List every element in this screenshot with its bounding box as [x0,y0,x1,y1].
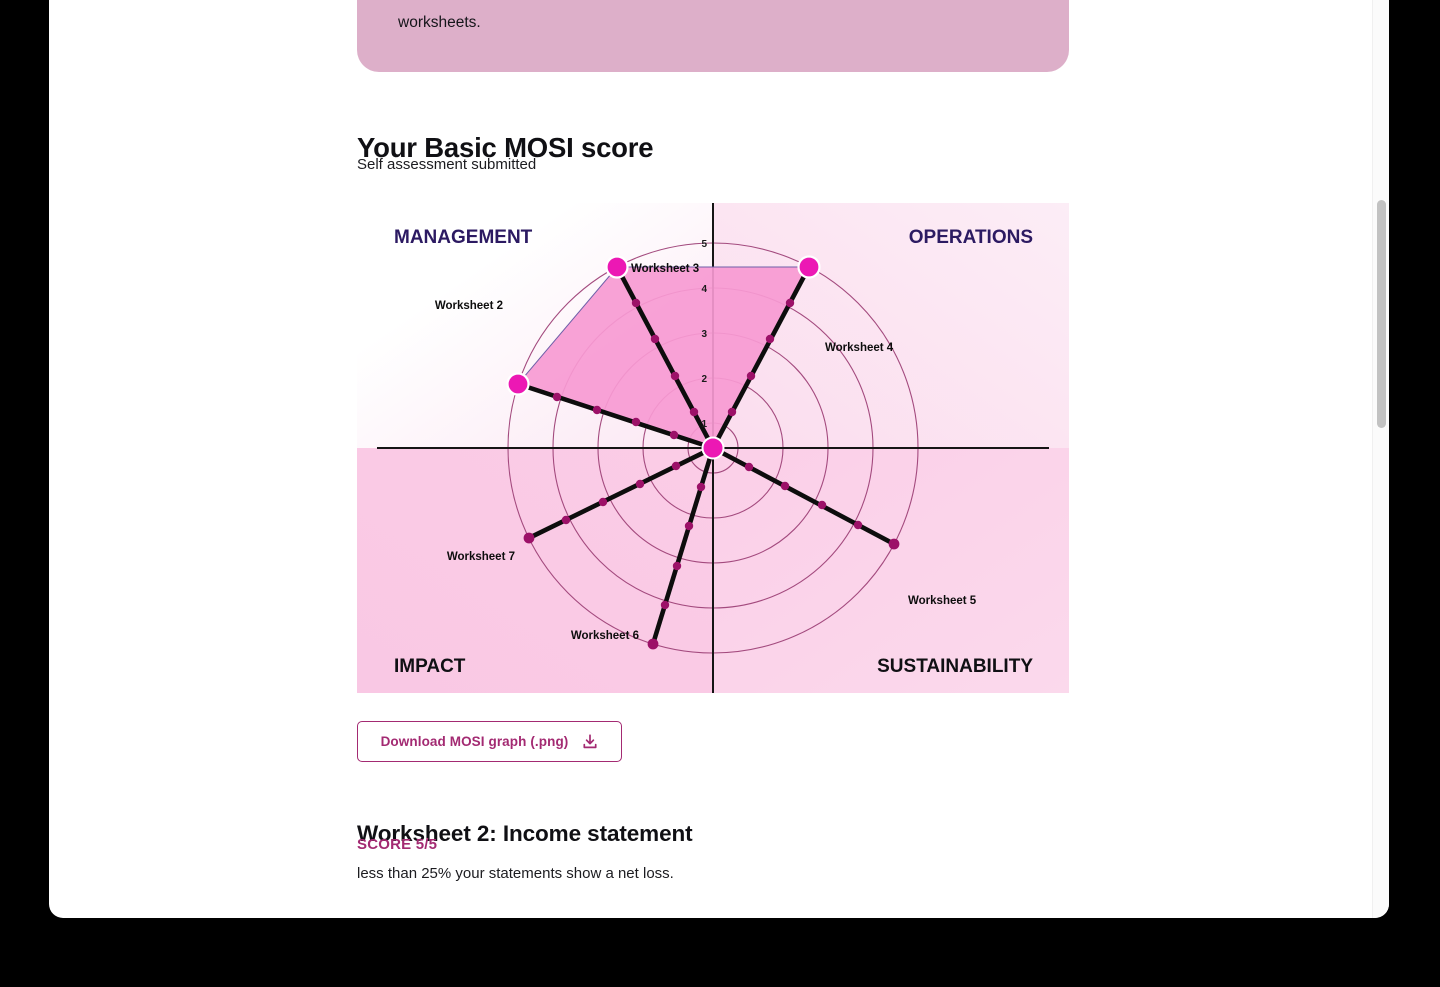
tick-marker [766,335,774,343]
info-banner: worksheets. [357,0,1069,72]
scrollbar-track[interactable] [1372,0,1389,918]
tick-marker [599,498,607,506]
tick-marker [786,299,794,307]
quadrant-label-sustainability: SUSTAINABILITY [877,656,1033,677]
label-worksheet-6: Worksheet 6 [571,630,639,642]
tick-marker [670,431,678,439]
tick-marker [636,480,644,488]
value-marker-worksheet-6[interactable] [648,639,659,650]
value-marker-worksheet-5[interactable] [889,539,900,550]
tick-marker [728,408,736,416]
page-panel: worksheets. Your Basic MOSI score Self a… [49,0,1389,918]
tick-marker [690,408,698,416]
tick-marker [854,521,862,529]
rtick-5: 5 [701,239,707,250]
rtick-1: 1 [701,419,707,430]
tick-marker [818,501,826,509]
quadrant-label-impact: IMPACT [394,656,466,677]
download-icon [582,734,598,750]
label-worksheet-7: Worksheet 7 [447,551,515,563]
worksheet-result-description: less than 25% your statements show a net… [357,865,674,882]
tick-marker [651,335,659,343]
value-marker-worksheet-3[interactable] [607,257,628,278]
tick-marker [747,372,755,380]
tick-marker [632,299,640,307]
worksheet-result-score: SCORE 5/5 [357,836,437,853]
tick-marker [671,372,679,380]
label-worksheet-5: Worksheet 5 [908,595,977,607]
tick-marker [781,482,789,490]
label-worksheet-2: Worksheet 2 [435,300,503,312]
label-worksheet-4: Worksheet 4 [825,342,894,354]
value-marker-worksheet-4[interactable] [799,257,820,278]
tick-marker [553,393,561,401]
page-subtitle: Self assessment submitted [357,156,536,173]
tick-marker [632,418,640,426]
rtick-2: 2 [701,374,707,385]
info-banner-text: worksheets. [398,12,481,34]
download-mosi-graph-button[interactable]: Download MOSI graph (.png) [357,721,622,762]
tick-marker [672,462,680,470]
tick-marker [745,463,753,471]
rtick-4: 4 [701,284,707,295]
mosi-radar-chart: 1 2 3 4 5 Worksheet 2 Worksheet 3 Worksh… [357,203,1069,693]
tick-marker [673,562,681,570]
tick-marker [593,406,601,414]
tick-marker [685,522,693,530]
scrollbar-thumb[interactable] [1377,200,1386,428]
chart-center-hub [703,438,724,459]
tick-marker [562,516,570,524]
label-worksheet-3: Worksheet 3 [631,263,699,275]
value-marker-worksheet-7[interactable] [524,533,535,544]
value-marker-worksheet-2[interactable] [508,374,529,395]
tick-marker [661,601,669,609]
quadrant-label-management: MANAGEMENT [394,227,533,248]
screen: worksheets. Your Basic MOSI score Self a… [0,0,1440,987]
rtick-3: 3 [701,329,707,340]
download-button-label: Download MOSI graph (.png) [381,734,569,749]
radar-svg: 1 2 3 4 5 Worksheet 2 Worksheet 3 Worksh… [357,203,1069,693]
quadrant-label-operations: OPERATIONS [909,227,1033,248]
tick-marker [697,483,705,491]
